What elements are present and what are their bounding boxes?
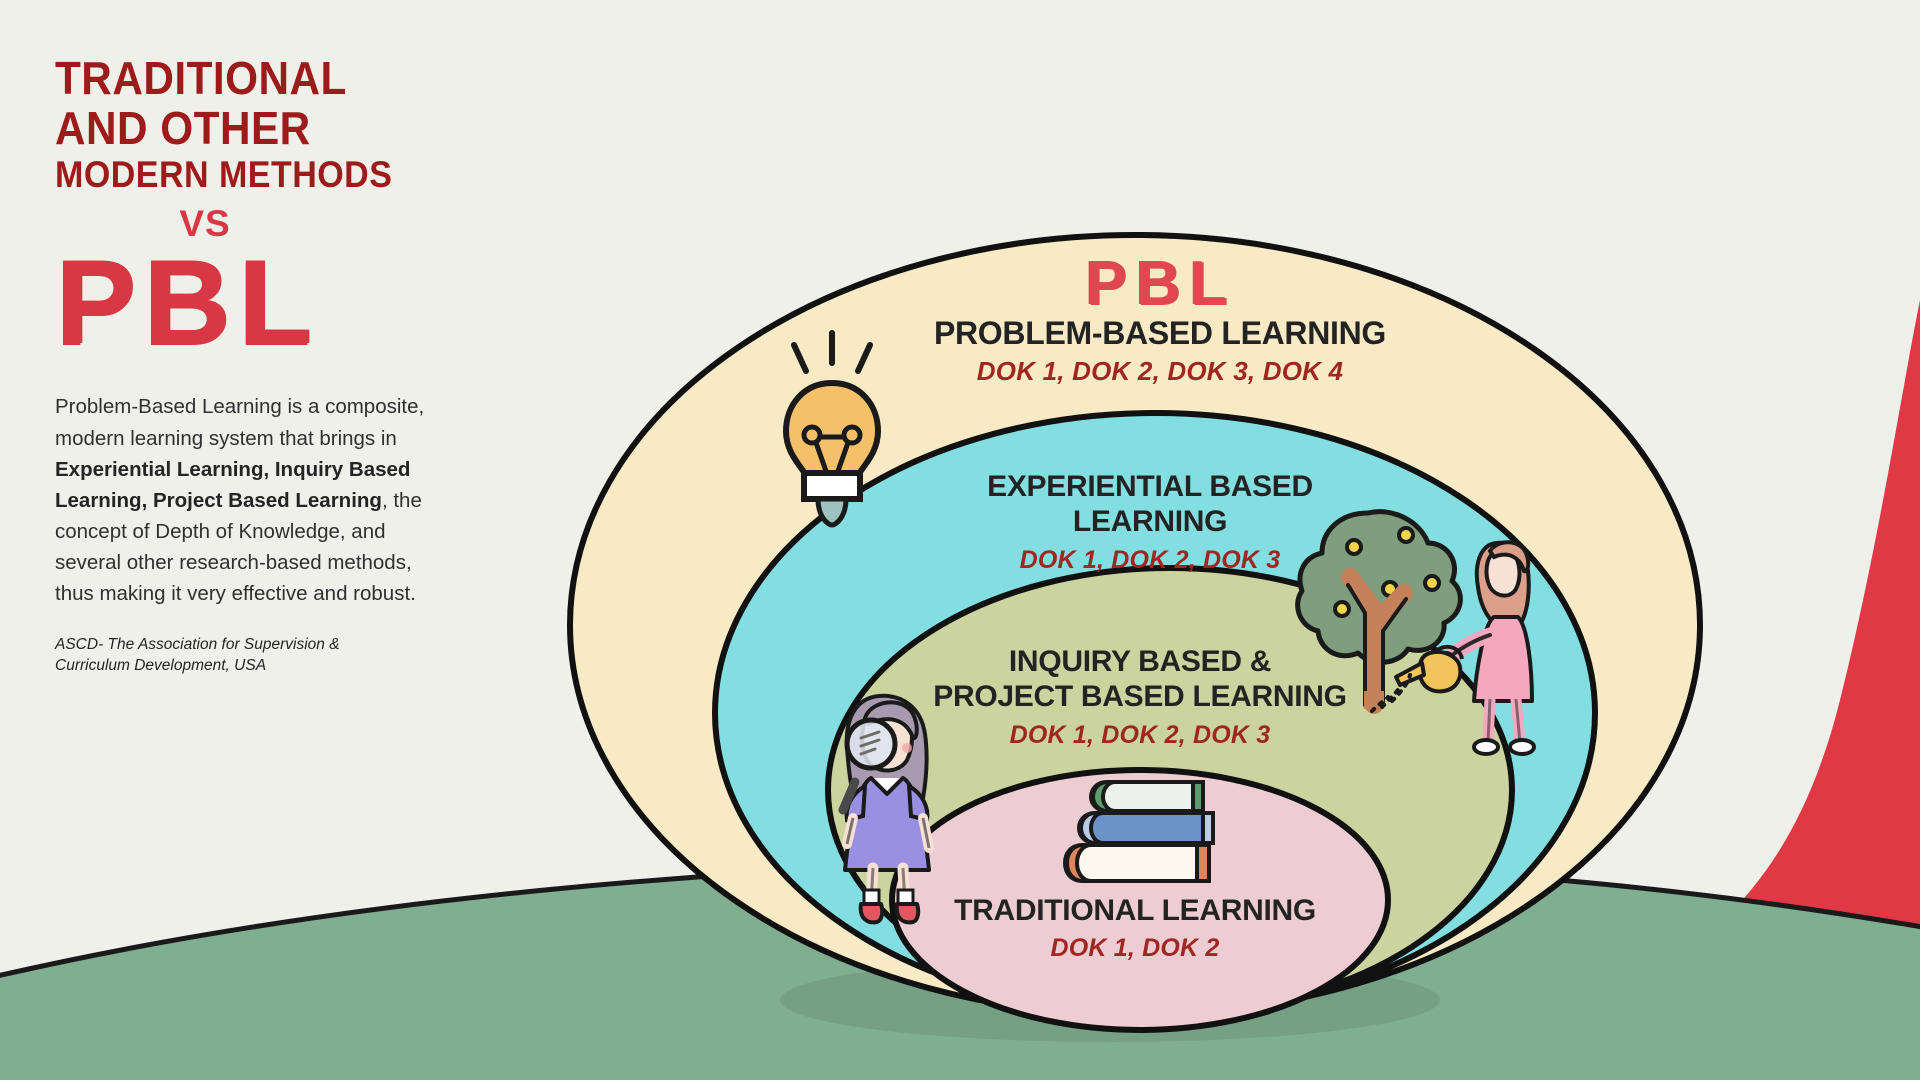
description-part-1: Problem-Based Learning is a composite, m… — [55, 395, 424, 449]
description-paragraph: Problem-Based Learning is a composite, m… — [55, 391, 430, 609]
ring-pbl-acronym: PBL — [860, 255, 1460, 314]
headline-line-3: MODERN METHODS — [55, 156, 451, 193]
ring-pbl-name: PROBLEM-BASED LEARNING — [860, 316, 1460, 351]
ring-label-traditional: TRADITIONAL LEARNING DOK 1, DOK 2 — [900, 895, 1370, 962]
ring-label-experiential: EXPERIENTIAL BASED LEARNING DOK 1, DOK 2… — [930, 470, 1370, 574]
description-bold-methods: Experiential Learning, Inquiry Based Lea… — [55, 458, 410, 512]
headline-acronym: PBL — [55, 247, 485, 357]
headline-line-2: AND OTHER — [55, 105, 451, 151]
ring-traditional-dok: DOK 1, DOK 2 — [900, 935, 1370, 962]
ring-inquiry-name-line2: PROJECT BASED LEARNING — [895, 680, 1385, 715]
headline-line-1: TRADITIONAL — [55, 55, 451, 101]
ring-experiential-name-line2: LEARNING — [930, 505, 1370, 540]
ring-label-inquiry: INQUIRY BASED & PROJECT BASED LEARNING D… — [895, 645, 1385, 749]
ring-experiential-name-line1: EXPERIENTIAL BASED — [930, 470, 1370, 505]
ring-inquiry-name-line1: INQUIRY BASED & — [895, 645, 1385, 680]
ring-inquiry-dok: DOK 1, DOK 2, DOK 3 — [895, 722, 1385, 749]
infographic-canvas: TRADITIONAL AND OTHER MODERN METHODS VS … — [0, 0, 1920, 1080]
ring-experiential-dok: DOK 1, DOK 2, DOK 3 — [930, 547, 1370, 574]
ring-pbl-dok: DOK 1, DOK 2, DOK 3, DOK 4 — [860, 357, 1460, 385]
source-citation: ASCD- The Association for Supervision & … — [55, 635, 405, 677]
left-text-column: TRADITIONAL AND OTHER MODERN METHODS VS … — [55, 55, 485, 677]
headline-block: TRADITIONAL AND OTHER MODERN METHODS VS … — [55, 55, 485, 357]
ring-traditional-name: TRADITIONAL LEARNING — [900, 895, 1370, 927]
ring-label-pbl: PBL PROBLEM-BASED LEARNING DOK 1, DOK 2,… — [860, 255, 1460, 386]
